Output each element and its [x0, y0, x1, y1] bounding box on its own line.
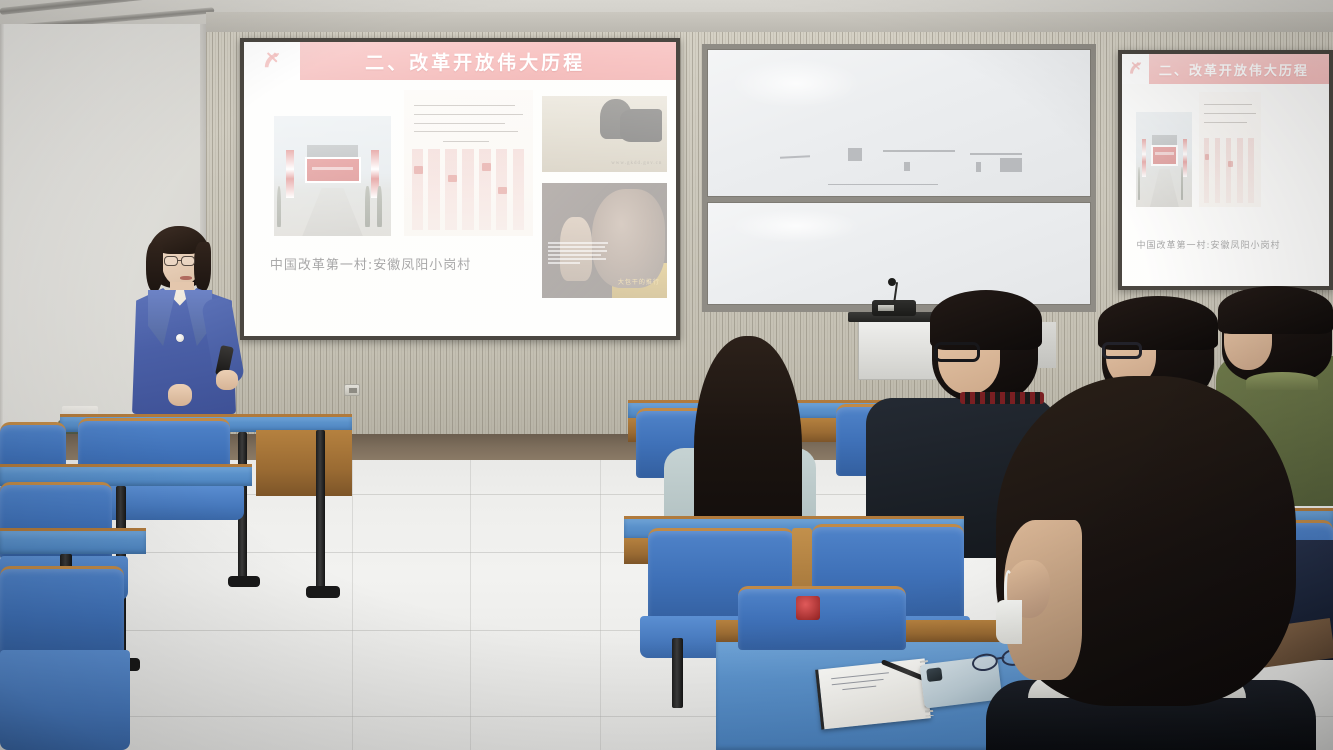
eyeglasses-icon [181, 256, 195, 266]
slide-title: 二、改革开放伟大历程 [300, 48, 676, 75]
slide-title: 二、改革开放伟大历程 [1149, 60, 1329, 79]
student-hood [1246, 372, 1318, 390]
microphone-icon [888, 278, 896, 286]
whiteboard-glare [731, 209, 861, 243]
village-gateway-photo [1136, 112, 1192, 207]
farming-photo: www.gkdd.gov.cn [542, 96, 667, 173]
eyeglasses-icon [1102, 342, 1142, 359]
slide-duplicate: 二、改革开放伟大历程 [1122, 54, 1329, 286]
eyeglasses-icon [164, 256, 178, 266]
deng-xiaoping-photo: 大包干的推行 [542, 183, 667, 298]
wall-top-rail [206, 12, 1333, 32]
desk-leg [316, 430, 325, 592]
whiteboard-pane-top [707, 49, 1091, 197]
lapel-pin [176, 334, 184, 342]
slide: 二、改革开放伟大历程 [244, 42, 676, 336]
classroom-photo: 二、改革开放伟大历程 [0, 0, 1333, 750]
instructor-hair-side [194, 242, 211, 292]
photo-watermark: www.gkdd.gov.cn [611, 161, 662, 166]
village-gateway-photo [274, 116, 391, 236]
whiteboard [702, 44, 1096, 312]
seat [0, 566, 124, 662]
desk-foot [228, 576, 260, 587]
eyeglass-lens [971, 652, 1000, 673]
seat-tag [796, 596, 820, 620]
desk-front-panel [256, 430, 352, 496]
instructor-hand [216, 370, 238, 390]
instructor-hair-side [146, 242, 163, 292]
emblem-box [244, 42, 300, 80]
instructor [118, 226, 240, 421]
seat [738, 586, 906, 650]
slide-caption: 中国改革第一村:安徽凤阳小岗村 [270, 254, 471, 273]
desk-surface [0, 528, 146, 554]
instructor-mouth [180, 276, 192, 280]
cpc-hammer-sickle-icon [254, 50, 290, 72]
spiral-notebook [815, 658, 931, 729]
slide-body: 中国改革第一村:安徽凤阳小岗村 [1122, 84, 1329, 286]
side-projection-screen: 二、改革开放伟大历程 [1118, 50, 1333, 290]
desk-foot [306, 586, 340, 598]
emblem-box [1122, 54, 1149, 84]
cpc-hammer-sickle-icon [1127, 60, 1144, 77]
whiteboard-glare [731, 59, 861, 109]
photo-overlay-caption: 大包干的推行 [618, 277, 660, 286]
seat-cushion [0, 650, 130, 750]
face-mask [996, 600, 1022, 644]
eyeglasses-icon [934, 342, 980, 362]
slide-header: 二、改革开放伟大历程 [1122, 54, 1329, 84]
student-collar-trim [960, 392, 1044, 404]
student-hair [1218, 286, 1333, 334]
wall-seam [0, 24, 4, 434]
power-socket [344, 384, 360, 396]
instructor-hand [168, 384, 192, 406]
slide-caption: 中国改革第一村:安徽凤阳小岗村 [1136, 238, 1280, 251]
contract-document-photo [1199, 92, 1261, 207]
main-projection-screen: 二、改革开放伟大历程 [240, 38, 680, 340]
slide-body: www.gkdd.gov.cn 大包干的推行 中国改革第一村:安徽凤阳小岗村 [244, 80, 676, 336]
desk-leg [672, 638, 683, 708]
phone-camera-icon [926, 667, 942, 682]
eyeglasses-bridge [178, 260, 182, 261]
contract-document-photo [404, 90, 534, 236]
whiteboard-pane-bottom [707, 202, 1091, 305]
student-hair [930, 290, 1042, 350]
slide-header: 二、改革开放伟大历程 [244, 42, 676, 80]
